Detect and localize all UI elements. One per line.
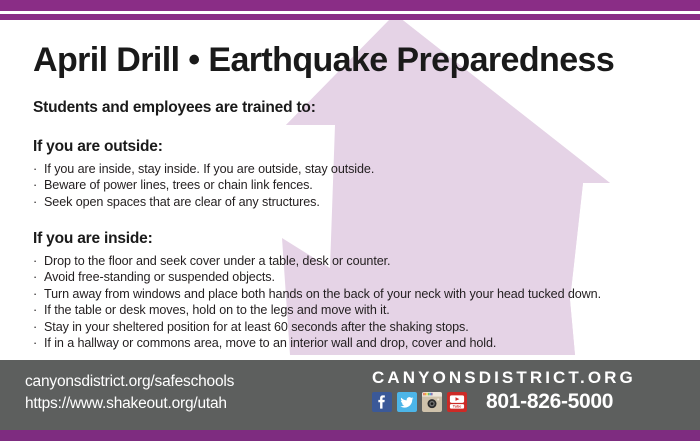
bullet-dot-icon: · — [33, 161, 37, 177]
organization-url[interactable]: CANYONSDISTRICT.ORG — [372, 368, 682, 388]
footer-bottom-stripe — [0, 430, 700, 441]
phone-number[interactable]: 801-826-5000 — [486, 390, 613, 414]
top-stripe-thick — [0, 0, 700, 11]
instagram-icon[interactable] — [422, 392, 442, 412]
list-item: · Turn away from windows and place both … — [33, 286, 601, 302]
list-item: · If you are inside, stay inside. If you… — [33, 161, 374, 177]
bullet-dot-icon: · — [33, 269, 37, 285]
list-item: · Beware of power lines, trees or chain … — [33, 177, 374, 193]
social-icon-row: Tube 801-826-5000 — [372, 390, 682, 414]
svg-text:Tube: Tube — [453, 405, 461, 409]
bullet-list-outside: · If you are inside, stay inside. If you… — [33, 161, 374, 210]
list-item: · Drop to the floor and seek cover under… — [33, 253, 601, 269]
page-subtitle: Students and employees are trained to: — [33, 99, 316, 117]
page-title: April Drill • Earthquake Preparedness — [33, 41, 614, 80]
section-if-you-are-inside: If you are inside: · Drop to the floor a… — [33, 230, 601, 351]
list-item: · Stay in your sheltered position for at… — [33, 319, 601, 335]
list-item-text: Drop to the floor and seek cover under a… — [44, 254, 390, 268]
top-stripe-thin — [0, 14, 700, 20]
facebook-icon[interactable] — [372, 392, 392, 412]
list-item-text: Turn away from windows and place both ha… — [44, 287, 601, 301]
footer-links: canyonsdistrict.org/safeschools https://… — [25, 371, 234, 415]
list-item-text: Avoid free-standing or suspended objects… — [44, 270, 275, 284]
twitter-icon[interactable] — [397, 392, 417, 412]
poster-canvas: April Drill • Earthquake Preparedness St… — [0, 0, 700, 441]
list-item-text: If you are inside, stay inside. If you a… — [44, 162, 374, 176]
footer-bar: canyonsdistrict.org/safeschools https://… — [0, 360, 700, 430]
list-item: · Seek open spaces that are clear of any… — [33, 194, 374, 210]
youtube-icon[interactable]: Tube — [447, 392, 467, 412]
bullet-dot-icon: · — [33, 177, 37, 193]
list-item-text: If in a hallway or commons area, move to… — [44, 336, 496, 350]
section-heading: If you are inside: — [33, 230, 601, 248]
section-if-you-are-outside: If you are outside: · If you are inside,… — [33, 138, 374, 210]
footer-link-shakeout[interactable]: https://www.shakeout.org/utah — [25, 393, 234, 415]
bullet-dot-icon: · — [33, 302, 37, 318]
footer-contact: CANYONSDISTRICT.ORG — [372, 368, 682, 414]
footer-link-safeschools[interactable]: canyonsdistrict.org/safeschools — [25, 371, 234, 393]
list-item-text: Beware of power lines, trees or chain li… — [44, 178, 313, 192]
bullet-dot-icon: · — [33, 319, 37, 335]
list-item-text: If the table or desk moves, hold on to t… — [44, 303, 390, 317]
list-item-text: Seek open spaces that are clear of any s… — [44, 195, 320, 209]
poster-content: April Drill • Earthquake Preparedness St… — [0, 0, 700, 360]
bullet-list-inside: · Drop to the floor and seek cover under… — [33, 253, 601, 351]
bullet-dot-icon: · — [33, 335, 37, 351]
section-heading: If you are outside: — [33, 138, 374, 156]
list-item: · If in a hallway or commons area, move … — [33, 335, 601, 351]
list-item: · If the table or desk moves, hold on to… — [33, 302, 601, 318]
bullet-dot-icon: · — [33, 253, 37, 269]
bullet-dot-icon: · — [33, 194, 37, 210]
bullet-dot-icon: · — [33, 286, 37, 302]
list-item: · Avoid free-standing or suspended objec… — [33, 269, 601, 285]
list-item-text: Stay in your sheltered position for at l… — [44, 320, 469, 334]
